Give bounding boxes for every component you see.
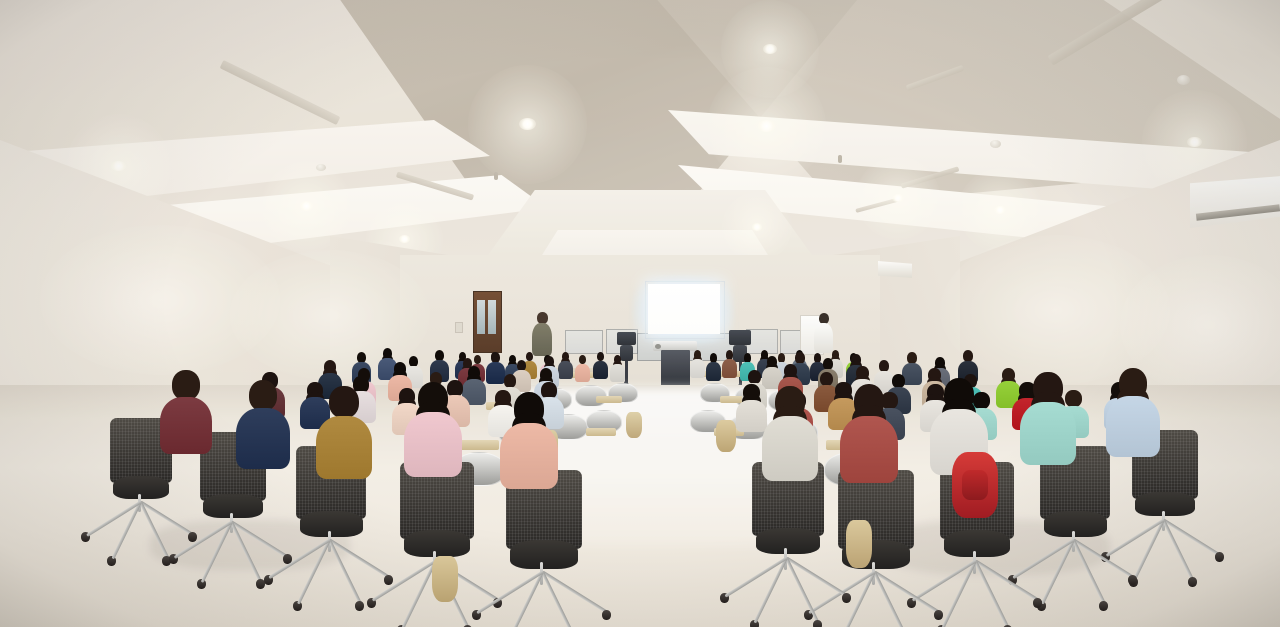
recessed-downlight — [519, 118, 536, 130]
attendee-head — [597, 352, 605, 361]
chair-caster — [934, 610, 943, 620]
recessed-downlight — [111, 161, 126, 172]
tote-bag — [716, 420, 736, 452]
attendee-head — [172, 370, 199, 400]
training-table — [596, 396, 622, 403]
tote-bag — [626, 412, 642, 438]
attendee-torso — [160, 397, 212, 454]
audience-member — [575, 355, 590, 381]
chair-caster — [355, 601, 364, 611]
chair-caster — [384, 575, 393, 585]
recessed-downlight — [763, 44, 777, 54]
attendee-torso — [1106, 396, 1160, 456]
audience-member — [593, 352, 608, 378]
pa-speaker-left — [617, 332, 636, 345]
audience-member — [236, 380, 290, 466]
audience-member — [610, 355, 625, 381]
light-switch[interactable] — [455, 322, 463, 333]
chair-caster — [188, 532, 197, 542]
attendee-head — [579, 355, 587, 364]
audience-member — [706, 353, 721, 380]
chair-caster — [1188, 577, 1197, 587]
audience-member — [558, 352, 573, 378]
projector-lens-icon — [655, 344, 661, 349]
chair-caster — [813, 620, 822, 627]
attendee-head — [748, 370, 761, 384]
audience-member — [160, 370, 212, 452]
chair-seat — [404, 530, 471, 557]
chair-seat — [300, 511, 363, 537]
audience-member — [1106, 368, 1160, 454]
chair-seat — [1044, 511, 1107, 537]
chair-caster — [1099, 601, 1108, 611]
attendee-torso — [706, 362, 721, 381]
attendee-head — [795, 352, 805, 364]
chair-seat — [113, 476, 169, 499]
sprinkler-head-icon — [494, 172, 498, 180]
audience-member — [840, 384, 898, 480]
recessed-downlight — [399, 235, 410, 243]
attendee-torso — [316, 416, 372, 479]
projection-screen[interactable] — [648, 284, 720, 334]
sprinkler-head-icon — [838, 155, 842, 163]
backpack-pocket — [962, 470, 988, 500]
attendee-torso — [575, 364, 590, 382]
attendee-head — [907, 352, 917, 364]
wall-panel — [565, 330, 603, 354]
tote-bag — [846, 520, 872, 568]
attendee-torso — [690, 359, 705, 378]
attendee-torso — [762, 416, 818, 480]
audience-member — [500, 392, 558, 486]
training-table — [586, 428, 616, 436]
tote-bag — [432, 556, 458, 602]
attendee-torso — [236, 408, 290, 468]
audience-member — [1020, 372, 1076, 462]
recessed-downlight — [1187, 137, 1202, 148]
chair-caster — [1033, 598, 1042, 608]
chair-caster — [842, 593, 851, 603]
audience-member — [404, 382, 462, 474]
attendee-torso — [610, 364, 625, 382]
attendee-torso — [404, 412, 462, 476]
attendee-head — [823, 358, 833, 370]
smoke-detector-icon — [316, 164, 326, 171]
chair-seat — [510, 540, 578, 568]
audience-member — [722, 350, 737, 377]
recessed-downlight — [758, 120, 775, 132]
chair-seat — [756, 528, 821, 554]
attendee-torso — [1020, 402, 1076, 465]
seminar-room-photo — [0, 0, 1280, 627]
chair-caster — [1128, 575, 1137, 585]
attendee-torso — [722, 359, 737, 378]
chair-seat — [1135, 492, 1194, 517]
pa-speaker-right — [729, 330, 751, 345]
attendee-head — [249, 380, 277, 411]
chair-caster — [602, 610, 611, 620]
attendee-torso — [593, 361, 608, 379]
door-glass-panel — [477, 300, 485, 334]
attendee-head — [504, 374, 516, 388]
audience-member — [316, 386, 372, 476]
attendee-torso — [840, 416, 898, 483]
smoke-detector-icon — [990, 140, 1001, 148]
audience-member — [762, 386, 818, 478]
recessed-downlight — [752, 223, 762, 230]
chair-seat — [944, 530, 1011, 557]
air-conditioner-unit — [878, 261, 912, 278]
door-glass-panel — [488, 300, 496, 334]
audience-member — [690, 350, 705, 377]
smoke-detector-icon — [1177, 75, 1190, 85]
attendee-head — [329, 386, 358, 418]
attendee-head — [963, 350, 973, 362]
chair-seat — [203, 494, 262, 519]
attendee-head — [879, 360, 889, 372]
recessed-downlight — [300, 201, 313, 210]
attendee-torso — [500, 423, 558, 489]
attendee-torso — [558, 361, 573, 379]
task-chair — [506, 470, 582, 598]
